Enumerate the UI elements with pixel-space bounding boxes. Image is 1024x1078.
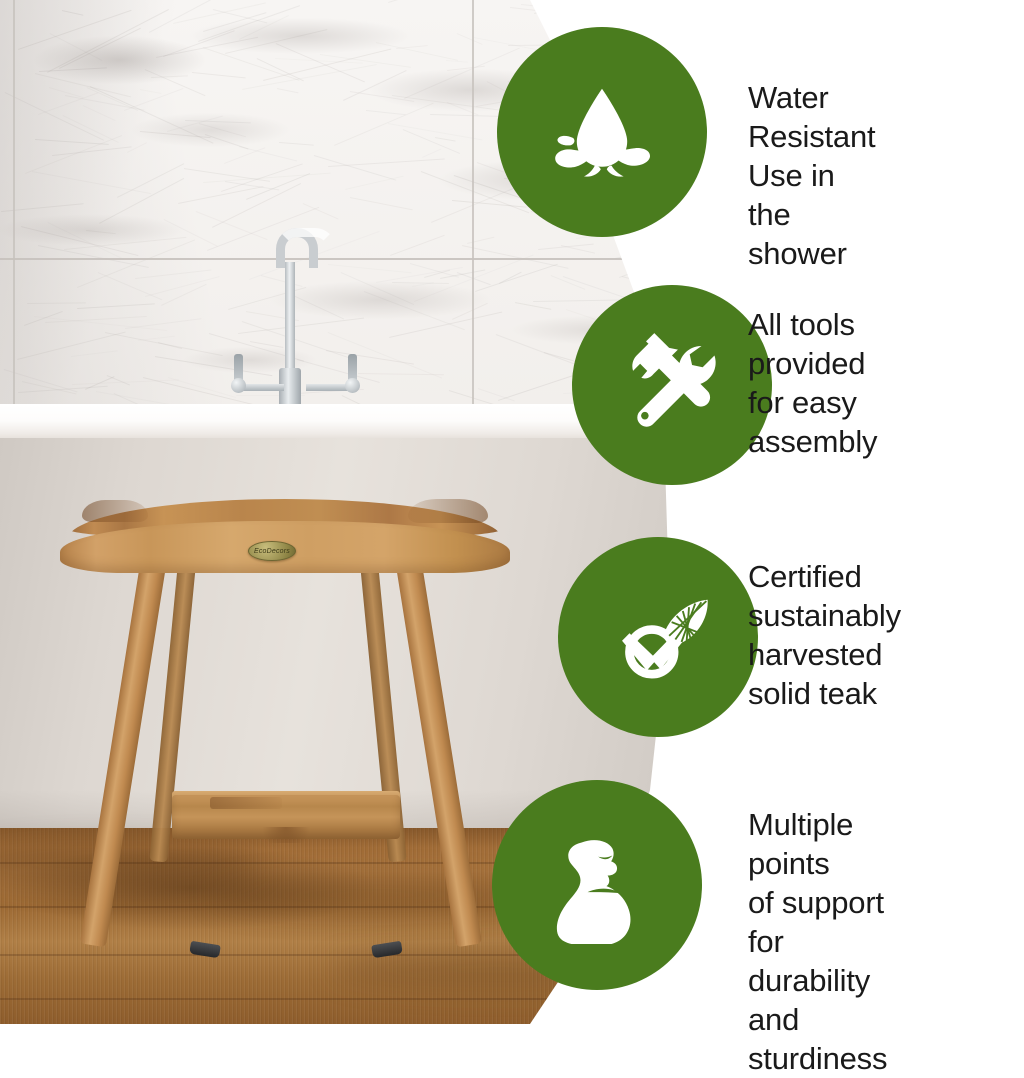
marble-vein — [61, 10, 83, 16]
feature-text-durability: Multiple points of support for durabilit… — [748, 805, 887, 1078]
marble-vein — [161, 284, 207, 306]
marble-vein — [475, 263, 558, 291]
stool-shelf-grain — [210, 797, 282, 809]
marble-vein — [135, 270, 212, 280]
marble-vein — [456, 33, 482, 45]
grout-line-vertical — [13, 0, 15, 412]
marble-vein — [314, 155, 397, 181]
marble-vein — [64, 95, 144, 111]
stool-leg-front-left — [80, 563, 166, 947]
feature-text-certified-teak: Certified sustainably harvested solid te… — [748, 557, 901, 713]
marble-vein — [35, 73, 132, 97]
marble-vein — [127, 143, 147, 154]
marble-vein — [77, 303, 155, 309]
marble-vein — [681, 12, 700, 64]
marble-vein — [659, 28, 700, 36]
marble-vein — [140, 131, 210, 138]
feature-text-all-tools: All tools provided for easy assembly — [748, 305, 877, 461]
marble-vein — [350, 197, 413, 210]
brand-badge: EcoDecors — [248, 541, 296, 561]
marble-vein — [167, 116, 223, 133]
marble-vein — [151, 76, 188, 79]
marble-vein — [225, 29, 328, 54]
marble-vein — [20, 226, 138, 256]
marble-vein — [178, 186, 263, 204]
marble-vein — [404, 48, 520, 99]
marble-vein — [653, 222, 696, 230]
marble-vein — [195, 211, 267, 240]
marble-vein — [203, 47, 300, 81]
marble-vein — [71, 351, 118, 358]
feature-text-water-resistant: Water Resistant Use in the shower — [748, 78, 875, 273]
marble-vein — [328, 159, 445, 168]
faucet-neck — [285, 262, 295, 372]
leaf-check-icon — [596, 575, 720, 699]
feature-icon-circle — [492, 780, 702, 990]
brand-badge-label: EcoDecors — [254, 548, 290, 555]
marble-vein — [534, 0, 606, 14]
marble-vein — [366, 110, 406, 115]
marble-vein — [615, 231, 700, 259]
marble-vein — [139, 89, 161, 94]
marble-vein — [358, 373, 444, 375]
marble-vein — [154, 356, 272, 376]
marble-vein — [27, 302, 86, 304]
marble-vein — [224, 147, 265, 164]
marble-vein — [363, 291, 464, 330]
stool-seat-grain — [82, 500, 148, 522]
marble-vein — [345, 176, 404, 190]
marble-vein — [212, 9, 267, 24]
marble-vein — [107, 375, 130, 385]
marble-vein — [645, 0, 700, 15]
marble-vein — [498, 373, 580, 401]
water-drop-icon — [542, 72, 662, 192]
faucet-knob-right — [345, 378, 360, 393]
marble-vein — [168, 377, 236, 398]
marble-vein — [105, 332, 223, 356]
marble-vein — [561, 245, 596, 254]
marble-vein — [279, 142, 314, 146]
marble-vein — [452, 303, 488, 320]
marble-vein — [334, 103, 434, 146]
marble-vein — [82, 105, 115, 121]
marble-vein — [647, 261, 687, 267]
marble-vein — [32, 171, 151, 194]
stool-seat: EcoDecors — [60, 495, 510, 575]
marble-vein — [164, 219, 218, 247]
marble-vein — [422, 149, 442, 159]
stool-leg-front-right — [396, 563, 482, 947]
chrome-faucet — [262, 228, 332, 414]
marble-vein — [510, 7, 536, 11]
marble-vein — [145, 276, 219, 297]
flexed-bicep-icon — [538, 826, 656, 944]
marble-vein — [694, 206, 700, 239]
marble-vein — [694, 272, 700, 285]
marble-vein — [690, 0, 700, 12]
feature-icon-circle — [572, 285, 772, 485]
marble-vein — [389, 311, 503, 338]
feature-icon-circle — [497, 27, 707, 237]
marble-vein — [683, 50, 700, 66]
marble-vein — [676, 202, 700, 257]
stool-seat-grain — [408, 499, 488, 523]
marble-vein — [59, 28, 141, 69]
marble-vein — [390, 234, 445, 255]
marble-vein — [697, 54, 700, 71]
marble-vein — [476, 162, 504, 173]
marble-vein — [38, 245, 149, 268]
marble-vein — [117, 163, 185, 198]
marble-vein — [515, 302, 552, 310]
marble-vein — [18, 10, 132, 50]
marble-vein — [86, 230, 116, 234]
marble-vein — [192, 72, 246, 78]
grout-line-vertical — [472, 0, 474, 412]
marble-vein — [435, 137, 456, 142]
infographic-stage: EcoDecors Water Resistant Use in the sho… — [0, 0, 1024, 1024]
teak-shower-stool: EcoDecors — [60, 495, 510, 955]
marble-vein — [198, 123, 246, 137]
marble-vein — [388, 0, 454, 3]
marble-vein — [277, 88, 299, 93]
faucet-knob-left — [231, 378, 246, 393]
faucet-spout — [276, 228, 318, 268]
feature-icon-circle — [558, 537, 758, 737]
stool-shelf-grain — [256, 827, 316, 843]
hammer-wrench-icon — [613, 326, 731, 444]
grout-line-horizontal — [0, 258, 700, 260]
